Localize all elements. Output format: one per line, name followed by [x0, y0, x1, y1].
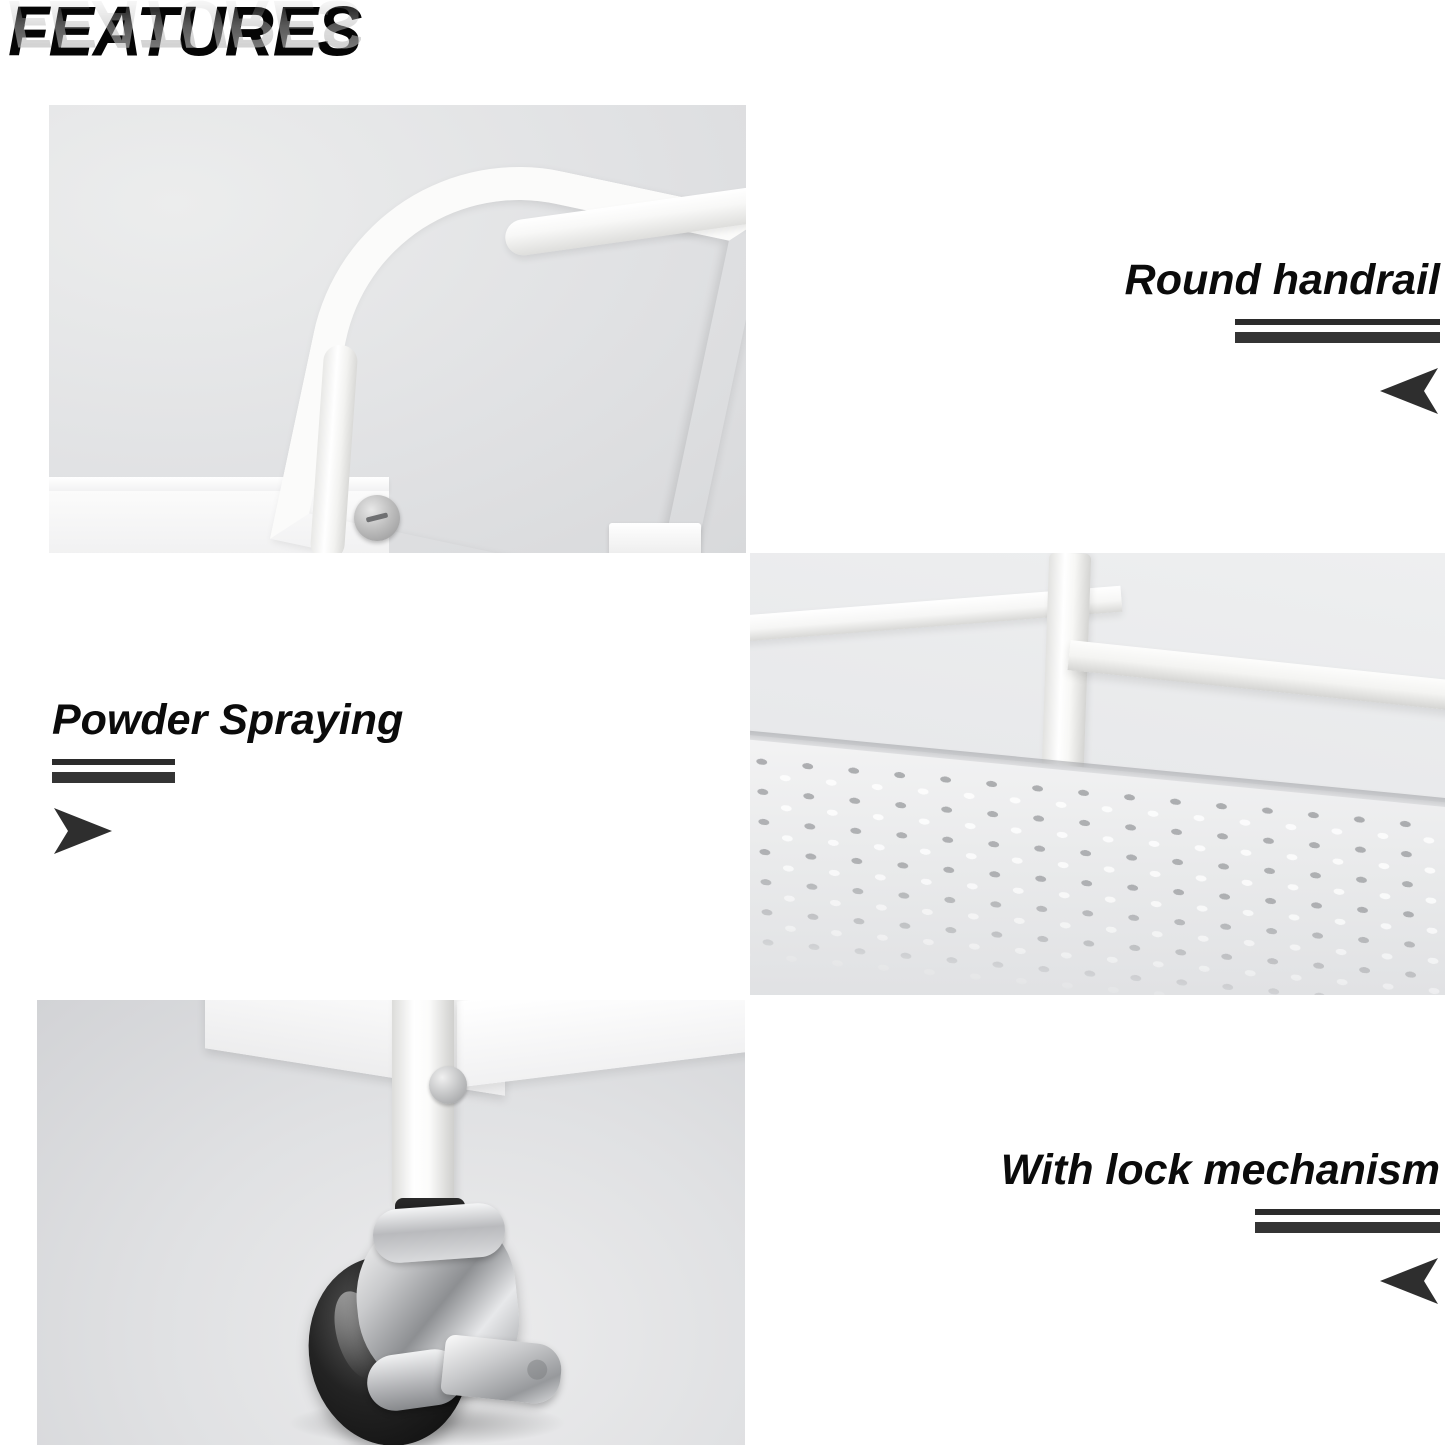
- arrow-left-icon: [1378, 367, 1440, 415]
- callout-round-handrail: Round handrail: [1125, 258, 1440, 415]
- shelf-perforations: [750, 748, 1445, 995]
- feature-label-round-handrail: Round handrail: [1125, 258, 1440, 303]
- callout-rule: [1255, 1209, 1440, 1233]
- feature-label-powder-spraying: Powder Spraying: [52, 698, 403, 743]
- feature-label-with-lock-mechanism: With lock mechanism: [1001, 1148, 1440, 1193]
- caster-swivel-top: [371, 1201, 506, 1264]
- callout-rule-thick: [1255, 1222, 1440, 1233]
- callout-rule-thin: [1235, 319, 1440, 325]
- caster-brake-lever: [440, 1334, 564, 1406]
- feature-photo-round-handrail: [49, 105, 746, 553]
- callout-rule-thin: [52, 759, 175, 765]
- feature-photo-lock-mechanism: [37, 1000, 745, 1445]
- callout-rule-thick: [52, 772, 175, 783]
- callout-rule: [1235, 319, 1440, 343]
- shelf-rail-front: [1068, 640, 1445, 712]
- handrail-screw: [354, 495, 400, 541]
- callout-rule-thick: [1235, 332, 1440, 343]
- callout-rule-thin: [1255, 1209, 1440, 1215]
- cart-leg-tube: [392, 1000, 454, 1210]
- page-title-reflection: FEATURES: [8, 0, 361, 58]
- feature-photo-powder-spraying: [750, 553, 1445, 995]
- arrow-left-icon: [1378, 1257, 1440, 1305]
- cart-leg-screw: [429, 1066, 467, 1104]
- arrow-right-icon: [52, 807, 114, 855]
- callout-rule: [52, 759, 175, 783]
- callout-with-lock-mechanism: With lock mechanism: [1001, 1148, 1440, 1305]
- frame-bracket: [609, 523, 701, 553]
- callout-powder-spraying: Powder Spraying: [52, 698, 403, 855]
